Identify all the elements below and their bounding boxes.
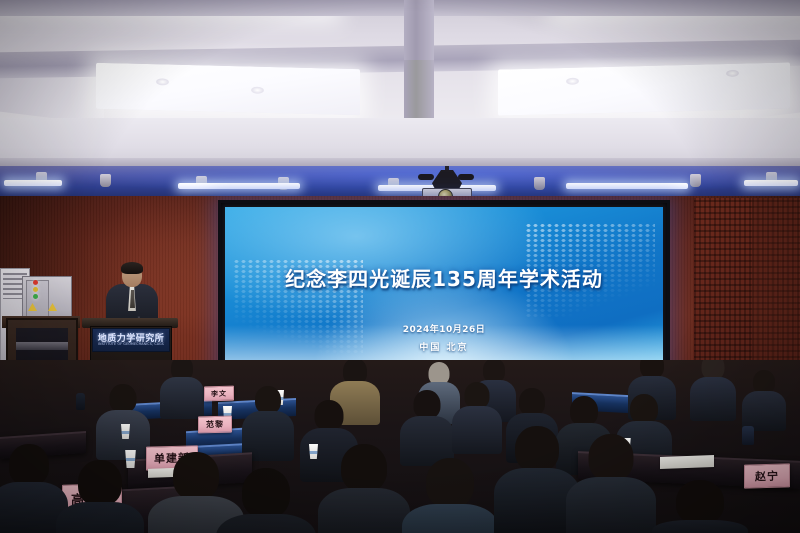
- audience-person: [96, 384, 150, 456]
- strip-light: [178, 183, 300, 189]
- person-head: [110, 384, 137, 413]
- name-placard: 李文: [204, 386, 234, 402]
- person-body: [56, 502, 144, 533]
- person-head: [589, 434, 634, 481]
- person-body: [318, 488, 410, 533]
- downlight-icon: [726, 70, 739, 77]
- indicator-light-red-icon: [33, 280, 38, 285]
- audience-person: [160, 360, 204, 416]
- screen-surface: 纪念李四光诞辰135周年学术活动 2024年10月26日 中国 北京: [225, 207, 663, 371]
- person-head: [515, 426, 559, 472]
- person-head: [255, 386, 281, 414]
- conference-photo: 纪念李四光诞辰135周年学术活动 2024年10月26日 中国 北京: [0, 0, 800, 533]
- name-placard: 赵宁: [744, 463, 790, 488]
- slide-date: 2024年10月26日: [225, 322, 663, 335]
- person-head: [78, 460, 122, 506]
- person-body: [160, 377, 204, 419]
- ceiling-light-panel-left: [96, 63, 360, 115]
- audience-person-foreground: [56, 460, 144, 533]
- person-head: [414, 390, 441, 419]
- cup-band: [121, 431, 130, 434]
- slide-location: 中国 北京: [225, 340, 663, 353]
- person-body: [690, 377, 736, 421]
- downlight-icon: [156, 78, 169, 85]
- person-body: [566, 477, 656, 533]
- door-crossbar: [16, 342, 68, 350]
- person-head: [242, 468, 290, 518]
- audience-person-foreground: [402, 458, 498, 533]
- cup-band: [309, 451, 318, 454]
- projection-screen[interactable]: 纪念李四光诞辰135周年学术活动 2024年10月26日 中国 北京: [218, 200, 670, 378]
- person-body: [216, 514, 316, 533]
- audience-area: 李文 范黎: [0, 360, 800, 533]
- strip-light: [744, 180, 798, 186]
- spotlight-icon: [534, 177, 545, 190]
- speaker-at-podium: [104, 264, 160, 326]
- ceiling-beam-top: [0, 0, 800, 16]
- podium-nameplate: 地质力学研究所 INSTITUTE OF GEOMECHANICS, CAGS: [92, 328, 170, 352]
- strip-light: [4, 180, 62, 186]
- indicator-light-yellow-icon: [33, 287, 38, 292]
- person-head: [341, 444, 387, 492]
- audience-person-foreground: [318, 444, 410, 533]
- audience-person-foreground: [216, 468, 316, 533]
- person-head: [173, 452, 219, 500]
- audience-person: [242, 386, 294, 456]
- water-bottle: [76, 393, 85, 410]
- cove-glow: [0, 166, 800, 198]
- ceiling-soffit-band: [0, 118, 800, 160]
- speaker-hair: [121, 262, 143, 274]
- audience-person-foreground: [652, 480, 748, 533]
- audience-person: [690, 360, 736, 416]
- person-head: [519, 388, 545, 416]
- name-placard: 范黎: [198, 416, 232, 434]
- indicator-light-green-icon: [33, 294, 38, 299]
- person-head: [465, 382, 490, 409]
- projector-bracket-right: [458, 174, 474, 180]
- strip-light: [566, 183, 688, 189]
- document-paper: [660, 455, 714, 469]
- slide-title: 纪念李四光诞辰135周年学术活动: [225, 263, 663, 292]
- spotlight-icon: [100, 174, 111, 187]
- person-head: [9, 444, 49, 486]
- audience-person: [742, 370, 786, 426]
- downlight-icon: [251, 87, 264, 94]
- person-body: [742, 391, 786, 431]
- person-head: [630, 394, 658, 424]
- projector-bracket-left: [418, 174, 434, 180]
- person-body: [652, 520, 748, 533]
- spotlight-icon: [690, 174, 701, 187]
- downlight-icon: [566, 78, 579, 85]
- person-head: [315, 400, 344, 431]
- water-bottle: [742, 426, 754, 445]
- person-body: [402, 504, 498, 533]
- person-head: [676, 480, 724, 524]
- ceiling-light-panel-right: [498, 62, 790, 115]
- person-head: [570, 396, 598, 426]
- audience-person-foreground: [566, 434, 656, 533]
- podium-org-name-en: INSTITUTE OF GEOMECHANICS, CAGS: [93, 342, 169, 346]
- person-head: [426, 458, 474, 508]
